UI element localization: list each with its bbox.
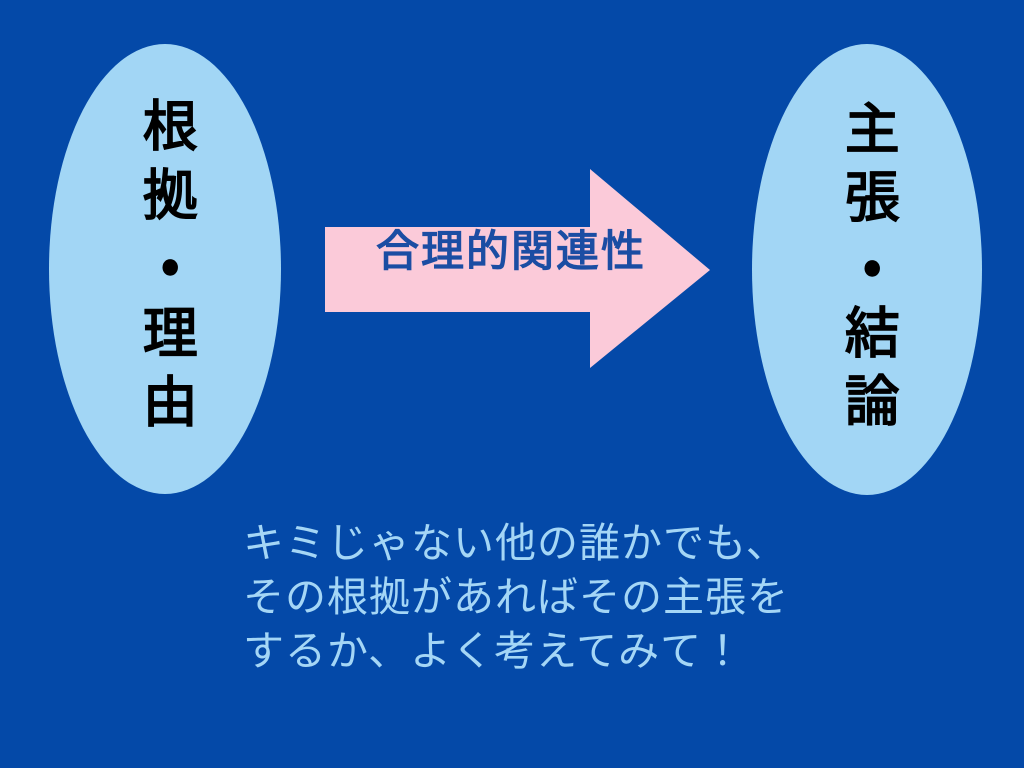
premise-label: 根拠・理由 <box>130 97 200 442</box>
conclusion-label: 主張・結論 <box>832 100 902 440</box>
caption-line-1: キミじゃない他の誰かでも、 <box>243 516 943 570</box>
relation-arrow-label: 合理的関連性 <box>371 231 651 274</box>
slide-canvas: 根拠・理由 合理的関連性 主張・結論 キミじゃない他の誰かでも、 その根拠があれ… <box>0 0 1024 768</box>
caption-line-3: するか、よく考えてみて！ <box>243 624 943 678</box>
relation-arrow[interactable]: 合理的関連性 <box>325 169 710 369</box>
conclusion-ellipse[interactable]: 主張・結論 <box>752 44 982 495</box>
caption-line-2: その根拠があればその主張を <box>243 570 943 624</box>
premise-ellipse[interactable]: 根拠・理由 <box>49 44 281 494</box>
caption-block: キミじゃない他の誰かでも、 その根拠があればその主張を するか、よく考えてみて！ <box>243 516 943 678</box>
